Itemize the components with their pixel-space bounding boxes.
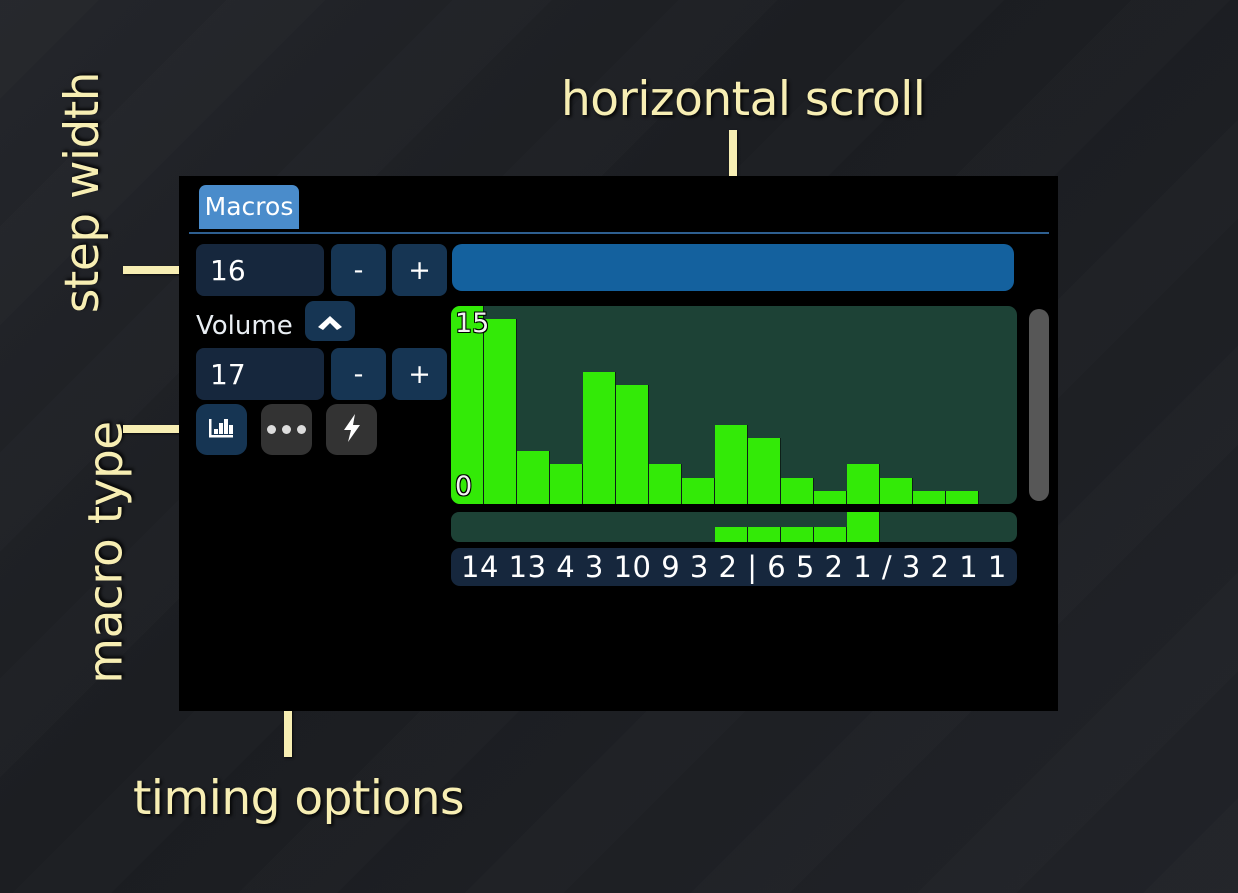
timing-options-button[interactable] (261, 404, 312, 455)
horizontal-scrollbar-thumb[interactable] (452, 244, 1014, 291)
macro-sequence-readout[interactable]: 14 13 4 3 10 9 3 2 | 6 5 2 1 / 3 2 1 1 0 (451, 548, 1017, 586)
vertical-scrollbar-track[interactable] (1027, 306, 1051, 504)
lightning-bolt-icon (341, 413, 363, 447)
bar[interactable] (913, 491, 946, 504)
bar[interactable] (616, 385, 649, 504)
macro-index-decrement-button[interactable]: - (331, 348, 386, 400)
annotation-macro-type: macro type (79, 421, 134, 683)
annotation-step-width: step width (55, 72, 110, 313)
minimap-bar[interactable] (814, 527, 847, 542)
vertical-scrollbar-thumb[interactable] (1029, 309, 1049, 501)
graph-max-label: 15 (455, 308, 489, 339)
macro-minimap-strip[interactable] (451, 512, 1017, 542)
screenshot-root: step width macro type horizontal scroll … (0, 0, 1238, 893)
trigger-mode-button[interactable] (326, 404, 377, 455)
bar[interactable] (484, 319, 517, 504)
step-width-decrement-button[interactable]: - (331, 244, 386, 296)
minimap-bar[interactable] (781, 527, 814, 542)
bar[interactable] (814, 491, 847, 504)
ellipsis-icon (267, 425, 306, 434)
minimap-bar[interactable] (715, 527, 748, 542)
minimap-bar[interactable] (748, 527, 781, 542)
step-width-value[interactable]: 16 (196, 244, 324, 296)
macro-index-value[interactable]: 17 (196, 348, 324, 400)
macro-graph-area: 15 0 (451, 306, 1051, 504)
bar[interactable] (583, 372, 616, 504)
step-width-increment-button[interactable]: + (392, 244, 447, 296)
macro-index-increment-button[interactable]: + (392, 348, 447, 400)
tab-macros[interactable]: Macros (199, 185, 299, 229)
chevron-up-icon[interactable] (305, 301, 355, 341)
bar[interactable] (880, 478, 913, 504)
horizontal-scrollbar-track[interactable] (452, 244, 1014, 291)
parameter-label: Volume (196, 306, 293, 346)
bar[interactable] (682, 478, 715, 504)
annotation-horizontal-scroll: horizontal scroll (561, 72, 925, 127)
bar[interactable] (517, 451, 550, 504)
macro-editor-panel: Macros 16 - + Volume 17 - + (179, 176, 1058, 711)
bar[interactable] (781, 478, 814, 504)
bar-series (451, 306, 1017, 504)
bar[interactable] (847, 464, 880, 504)
bar-chart-icon (207, 414, 237, 446)
graph-min-label: 0 (455, 471, 472, 502)
bar[interactable] (748, 438, 781, 504)
macro-bar-graph[interactable]: 15 0 (451, 306, 1017, 504)
minimap-bar[interactable] (847, 512, 880, 542)
tab-bar: Macros (179, 176, 1058, 235)
bar[interactable] (715, 425, 748, 504)
macro-type-button[interactable] (196, 404, 247, 455)
annotation-timing-options: timing options (133, 771, 464, 826)
bar[interactable] (649, 464, 682, 504)
minimap-bar-series (451, 512, 1017, 542)
bar[interactable] (550, 464, 583, 504)
bar[interactable] (946, 491, 979, 504)
tab-underline (189, 232, 1049, 234)
